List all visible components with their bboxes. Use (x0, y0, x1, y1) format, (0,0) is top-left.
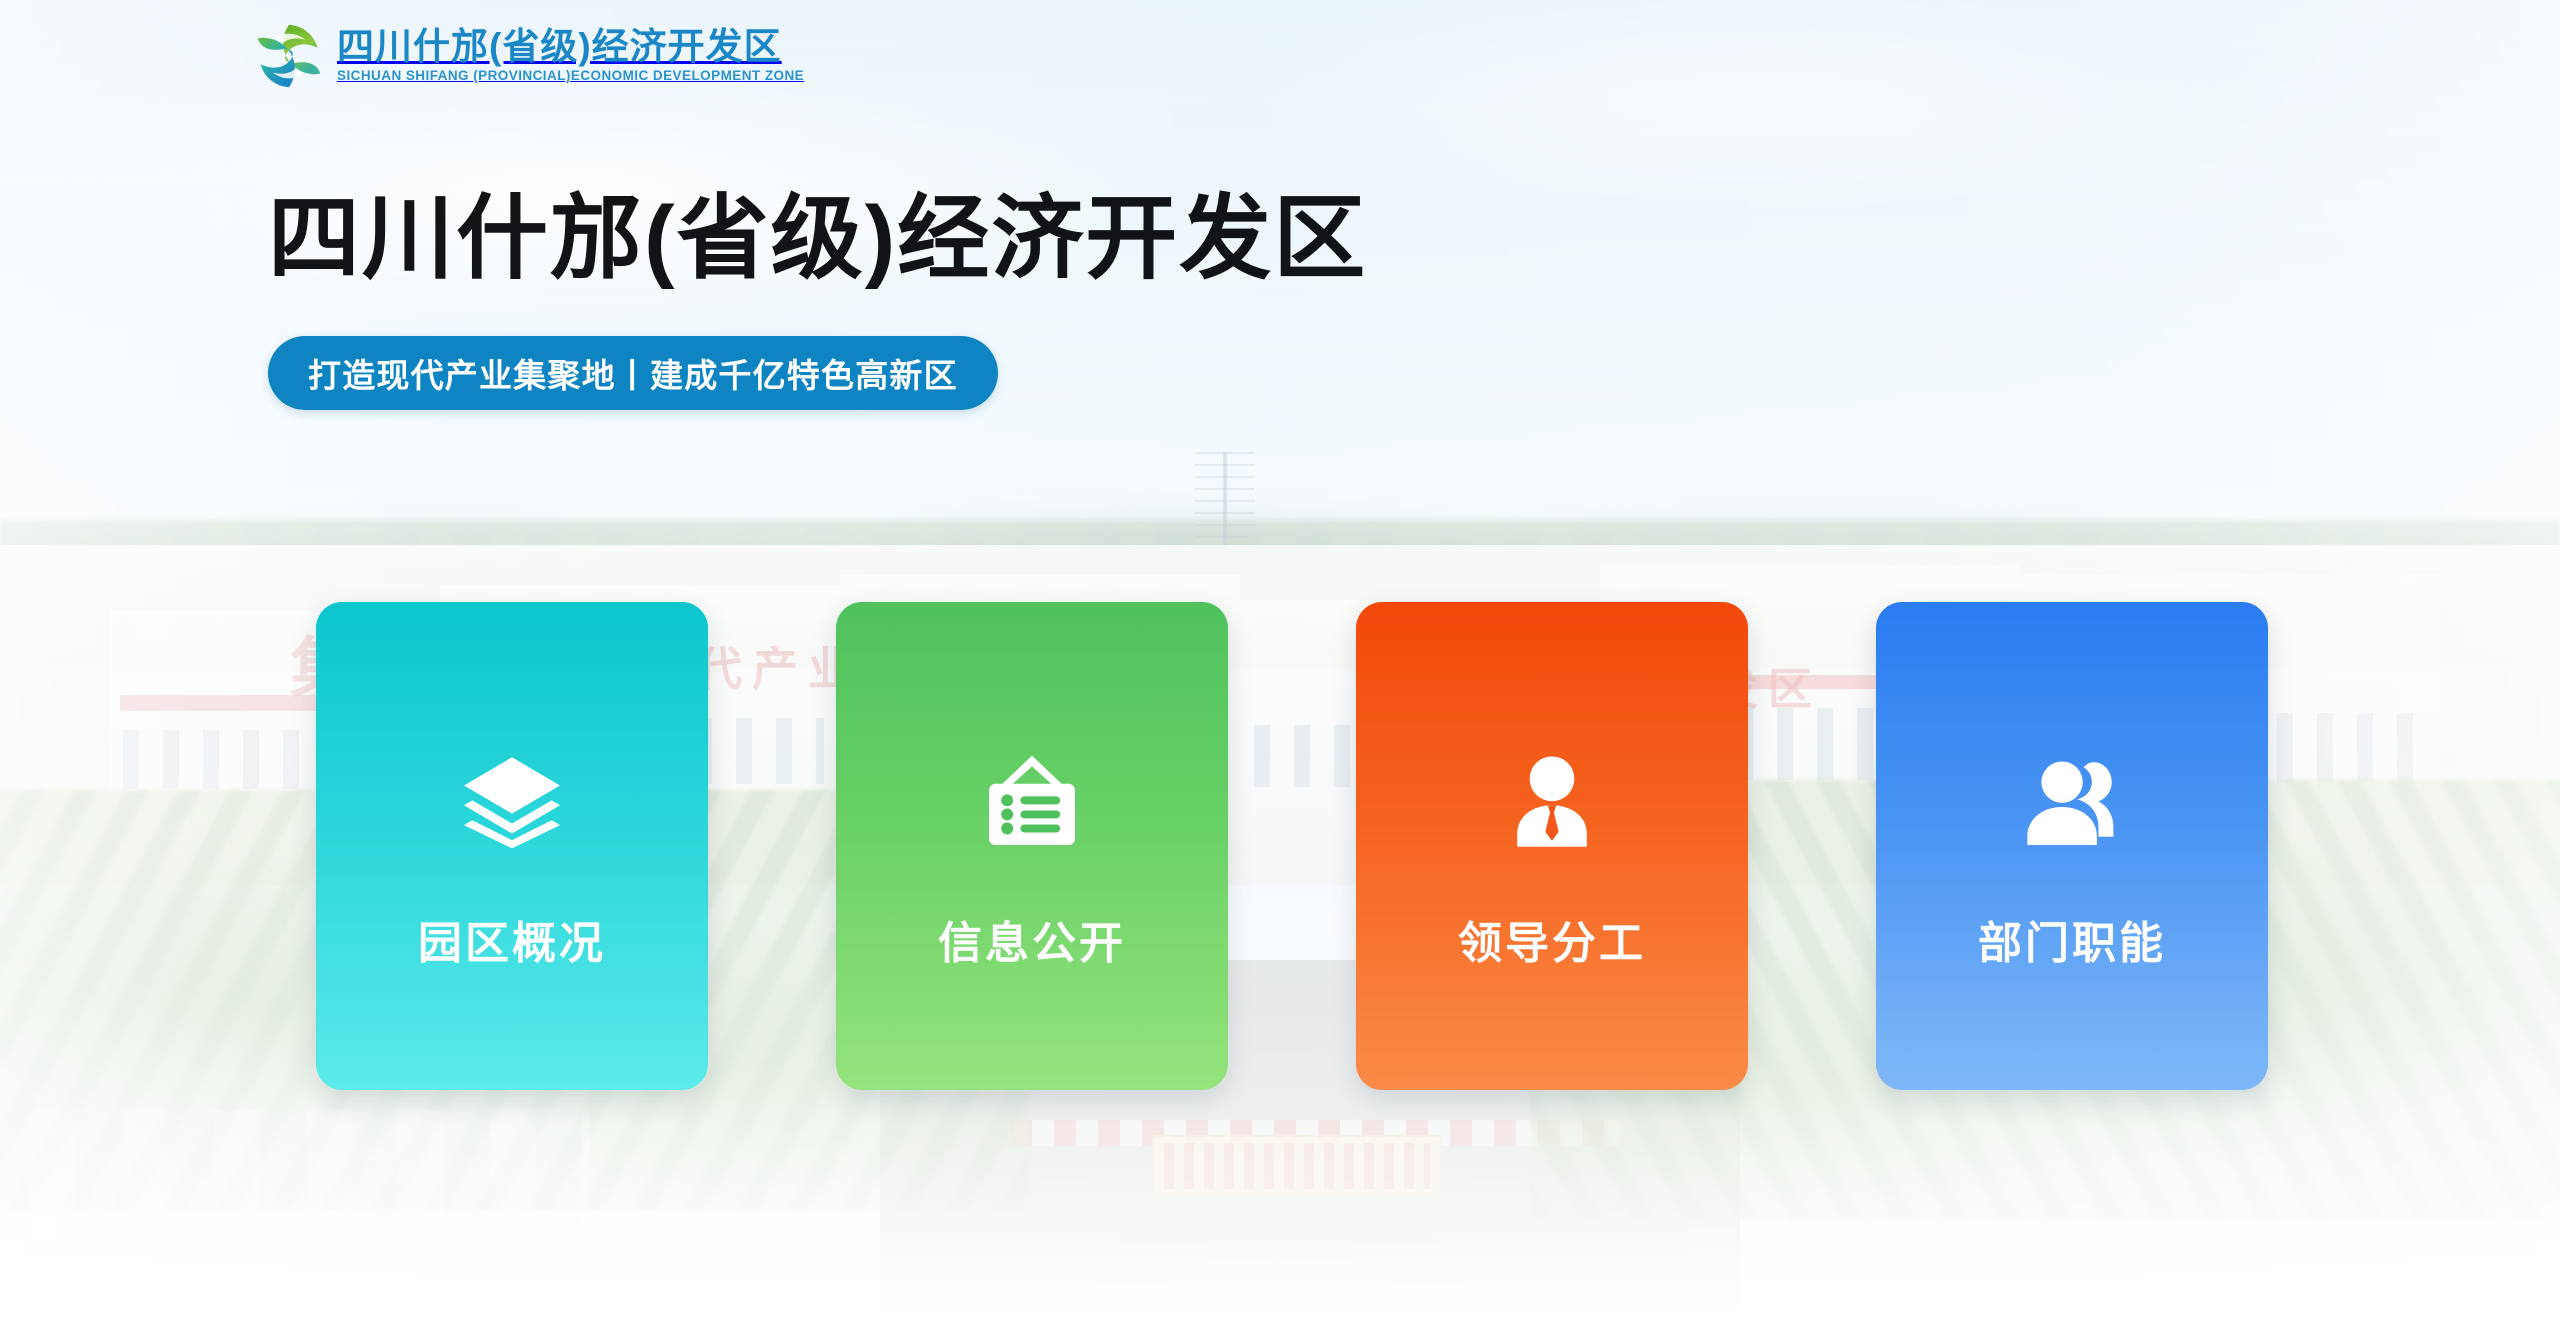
nav-card-park-overview[interactable]: 园区概况 (316, 602, 708, 1090)
page-title: 四川什邡(省级)经济开发区 (268, 185, 1367, 294)
brand-name-cn: 四川什邡(省级)经济开发区 (337, 28, 804, 67)
brand-text-block: 四川什邡(省级)经济开发区 SICHUAN SHIFANG (PROVINCIA… (337, 28, 804, 84)
nav-card-label: 部门职能 (1978, 922, 2166, 966)
users-icon (2018, 754, 2126, 850)
nav-card-label: 信息公开 (938, 922, 1126, 966)
page-root: 集团 现代产业 经济 开发区 (0, 0, 2560, 1317)
nav-card-department-functions[interactable]: 部门职能 (1876, 602, 2268, 1090)
person-tie-icon (1498, 754, 1606, 850)
site-logo-link[interactable]: 四川什邡(省级)经济开发区 SICHUAN SHIFANG (PROVINCIA… (255, 22, 804, 90)
layers-icon (458, 754, 566, 850)
swirl-globe-logo-icon (255, 22, 323, 90)
nav-card-label: 领导分工 (1458, 922, 1646, 966)
nav-card-leadership-duties[interactable]: 领导分工 (1356, 602, 1748, 1090)
hero-section: 四川什邡(省级)经济开发区 打造现代产业集聚地丨建成千亿特色高新区 (268, 185, 1367, 410)
quick-nav-cards: 园区概况 信息公开 (316, 602, 2268, 1090)
nav-card-information-disclosure[interactable]: 信息公开 (836, 602, 1228, 1090)
brand-name-en: SICHUAN SHIFANG (PROVINCIAL)ECONOMIC DEV… (337, 69, 804, 84)
notice-board-icon (978, 754, 1086, 850)
hero-slogan-badge: 打造现代产业集聚地丨建成千亿特色高新区 (268, 336, 998, 410)
nav-card-label: 园区概况 (418, 922, 606, 966)
